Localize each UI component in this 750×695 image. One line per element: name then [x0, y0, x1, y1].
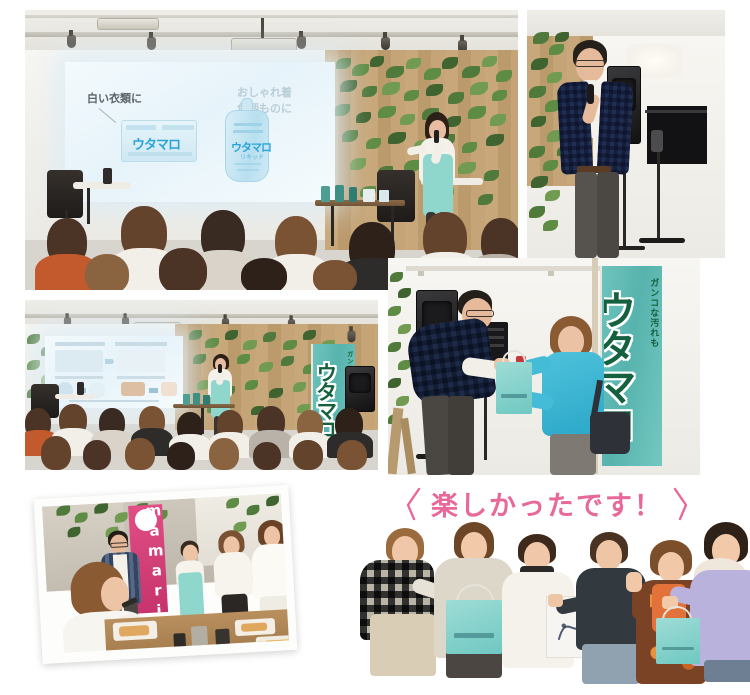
group-person-6	[690, 522, 750, 682]
product-table-leg	[331, 206, 334, 246]
ceiling	[25, 300, 378, 326]
product-liquid-bottle: ウタマロ リキッド	[225, 110, 269, 182]
product-bar-soap-box: ウタマロ	[121, 120, 197, 162]
male-speaker-scene	[527, 10, 725, 258]
seminar-scene: 白い衣類に おしゃれ着 色柄ものに ウタマロ ウタマロ リキッド	[25, 10, 518, 290]
shoulder-bag	[590, 412, 630, 454]
male-speaker	[555, 40, 639, 258]
peace-sign-arm	[632, 588, 650, 620]
gift-bag	[656, 618, 700, 664]
eyeglasses-icon	[575, 60, 605, 67]
photo-male-speaker-microphone	[527, 10, 725, 258]
beige-coat	[370, 614, 436, 676]
gift-bag	[446, 600, 502, 654]
bracket-right-icon	[673, 487, 689, 521]
pa-speaker-box	[345, 366, 375, 412]
microphone-icon	[587, 84, 594, 104]
food-table-scene: mamari	[42, 493, 281, 506]
photo-group-participants: ⋅	[360, 522, 740, 684]
gift-handover-scene: ウタマロ ガンコな汚れも	[388, 258, 700, 475]
spotlight-icon	[147, 37, 156, 50]
microphone-icon	[434, 130, 439, 143]
polaroid-inner: mamari	[42, 493, 289, 653]
ceiling-beam	[25, 32, 518, 37]
photo-food-table-polaroid: mamari	[34, 485, 298, 664]
spotlight-icon	[347, 331, 355, 343]
caption-handwritten: 楽しかったです！	[405, 484, 689, 523]
projector-mount	[261, 18, 264, 38]
speaker-trousers	[597, 172, 619, 258]
side-table-top	[55, 394, 95, 399]
side-table-top	[73, 182, 131, 189]
product-bottle-sub: リキッド	[240, 152, 264, 161]
bracket-left-icon	[405, 487, 421, 521]
eyeglasses-icon	[466, 310, 494, 317]
speaker-trousers	[575, 172, 597, 258]
spotlight-icon	[297, 36, 306, 49]
spotlight-icon	[67, 35, 76, 48]
projector-rear	[97, 18, 159, 30]
host-trousers	[448, 396, 474, 475]
participant-female	[538, 316, 628, 475]
side-table-leg	[87, 188, 90, 224]
product-box-brand: ウタマロ	[132, 134, 180, 153]
nobori-tagline: ガンコな汚れも	[647, 278, 660, 454]
mic-stand	[657, 152, 660, 242]
spotlight-icon	[381, 37, 390, 50]
photo-seminar-audience-room: ウタマロ ガンコな汚れも	[25, 300, 378, 470]
ceiling-beam	[25, 314, 378, 318]
peace-sign-hand	[626, 572, 642, 592]
photo-gift-handover: ウタマロ ガンコな汚れも	[388, 258, 700, 475]
gift-bag	[496, 362, 532, 414]
photo-collage-page: 白い衣類に おしゃれ着 色柄ものに ウタマロ ウタマロ リキッド	[0, 0, 750, 695]
blazer-right	[597, 81, 634, 175]
slide-label-left: 白い衣類に	[87, 90, 142, 106]
audience-room-scene: ウタマロ ガンコな汚れも	[25, 300, 378, 470]
photo-seminar-presentation-wide: 白い衣類に おしゃれ着 色柄ものに ウタマロ ウタマロ リキッド	[25, 10, 518, 290]
caption-text: 楽しかったです！	[431, 484, 663, 523]
